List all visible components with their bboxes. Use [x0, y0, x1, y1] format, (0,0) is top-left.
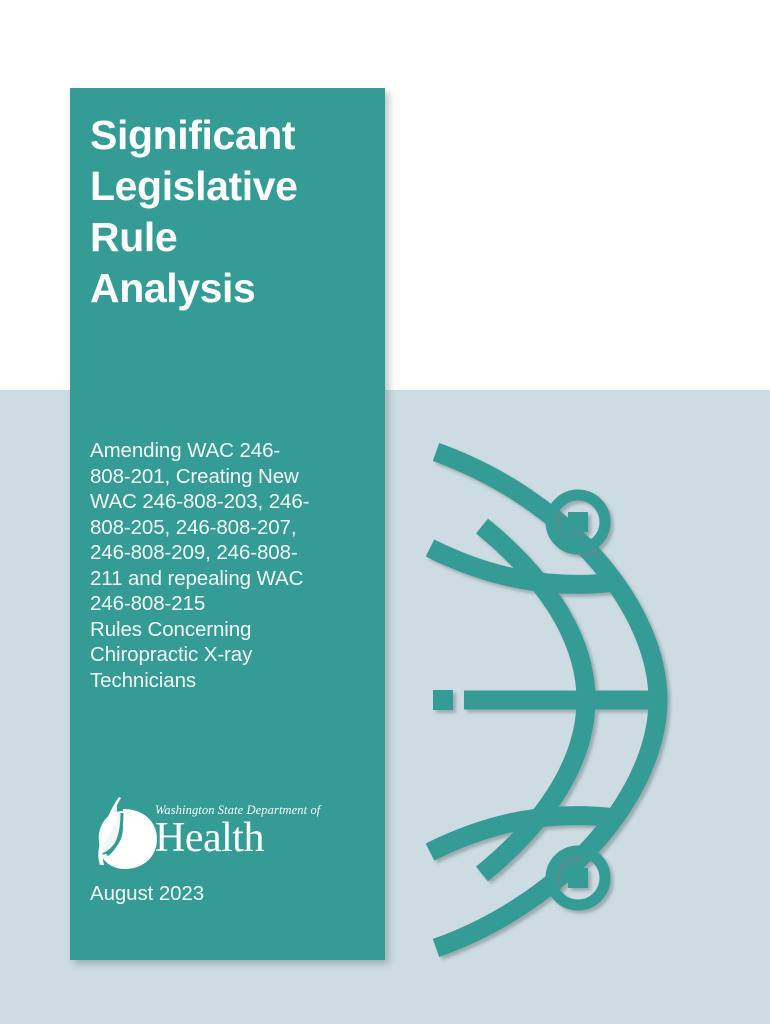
scope-line-2: Chiropractic X-ray — [90, 642, 352, 668]
doh-logo-text: Washington State Department of Health — [155, 803, 345, 861]
title-line-2: Legislative — [90, 161, 365, 212]
subtitle-line-6: 211 and repealing WAC — [90, 566, 352, 592]
feather-disc-mark-icon — [93, 795, 161, 871]
page-title: Significant Legislative Rule Analysis — [90, 110, 365, 314]
document-cover-page: Significant Legislative Rule Analysis Am… — [0, 0, 770, 1024]
title-line-1: Significant — [90, 110, 365, 161]
title-line-4: Analysis — [90, 263, 365, 314]
title-line-3: Rule — [90, 212, 365, 263]
subtitle-line-2: 808-201, Creating New — [90, 464, 352, 490]
subtitle-line-7: 246-808-215 — [90, 591, 352, 617]
subtitle-block: Amending WAC 246- 808-201, Creating New … — [90, 438, 352, 693]
doh-logo: Washington State Department of Health — [93, 795, 343, 875]
publication-date: August 2023 — [90, 881, 204, 907]
logo-health-wordmark: Health — [155, 815, 345, 861]
subtitle-line-5: 246-808-209, 246-808- — [90, 540, 352, 566]
subtitle-line-4: 808-205, 246-808-207, — [90, 515, 352, 541]
subtitle-line-1: Amending WAC 246- — [90, 438, 352, 464]
cover-panel: Significant Legislative Rule Analysis Am… — [70, 88, 385, 960]
scope-line-1: Rules Concerning — [90, 617, 352, 643]
scope-line-3: Technicians — [90, 668, 352, 694]
subtitle-line-3: WAC 246-808-203, 246- — [90, 489, 352, 515]
globe-wireframe-graphic — [420, 430, 690, 970]
